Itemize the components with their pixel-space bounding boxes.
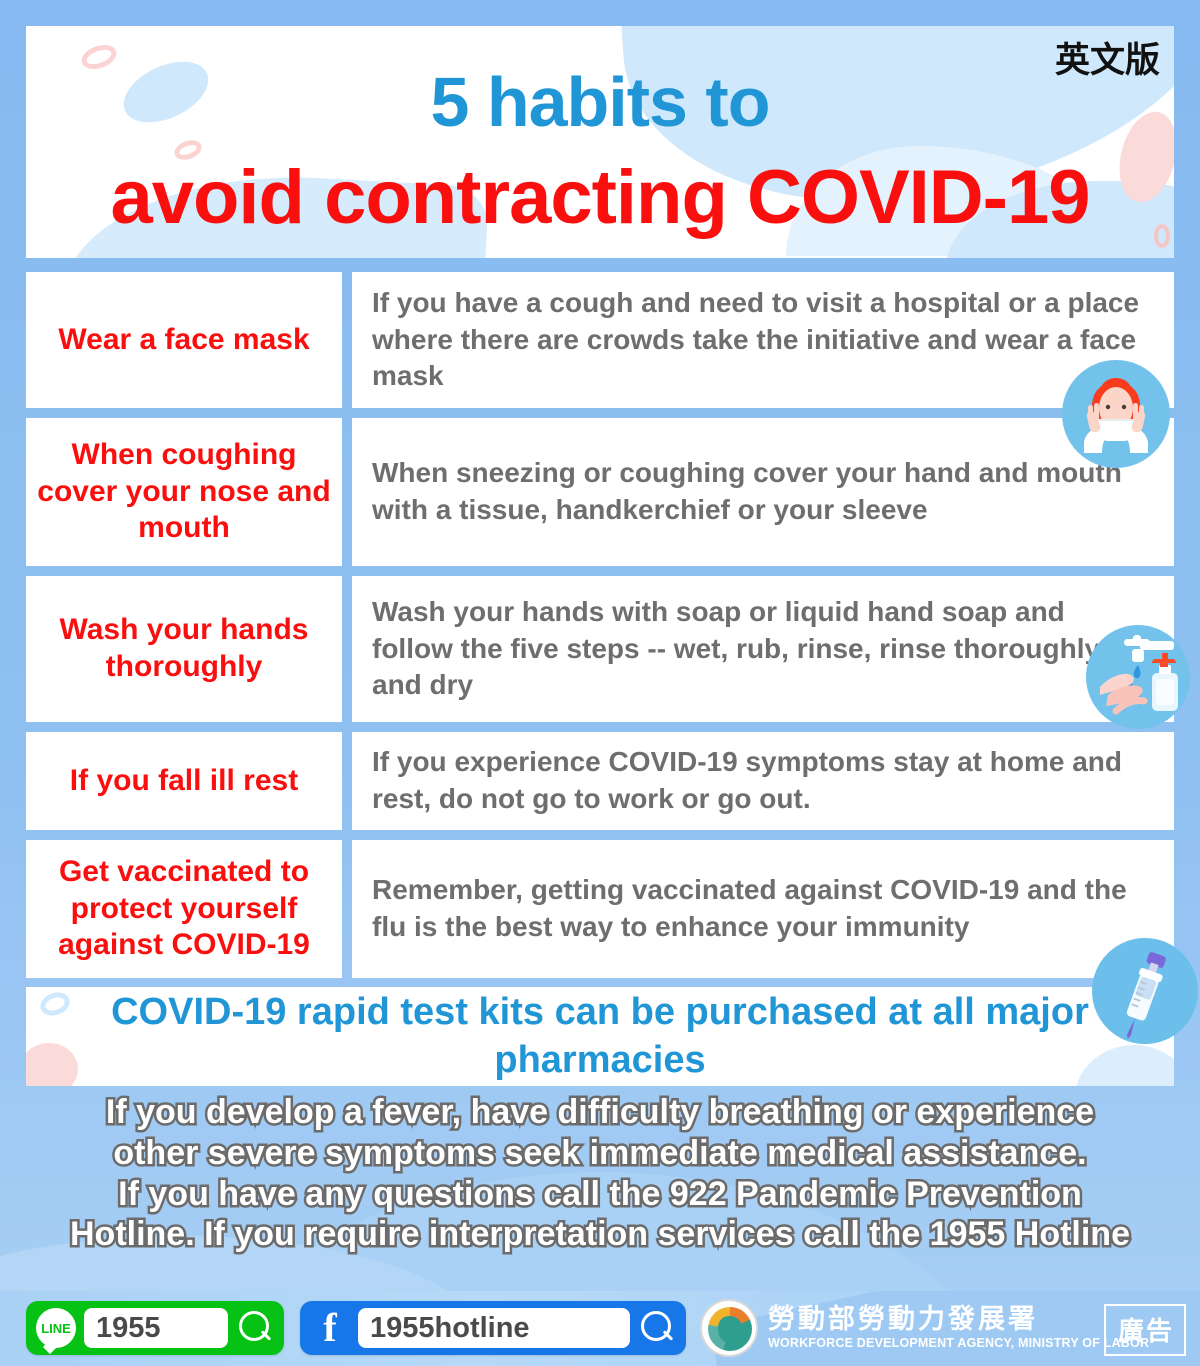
agency-branding: 勞動部勞動力發展署 WORKFORCE DEVELOPMENT AGENCY, … — [700, 1299, 1149, 1357]
facebook-contact-chip[interactable]: f 1955hotline — [300, 1301, 686, 1355]
habit-row: When coughing cover your nose and mouth … — [26, 418, 1174, 566]
notice-line-2: other severe symptoms seek immediate med… — [0, 1133, 1200, 1174]
poster-root: 英文版 5 habits to avoid contracting COVID-… — [0, 0, 1200, 1366]
habit-title: Wash your hands thoroughly — [32, 612, 336, 685]
face-mask-person-icon — [1062, 360, 1170, 468]
habit-description: If you have a cough and need to visit a … — [372, 285, 1152, 395]
habit-title-cell: Get vaccinated to protect yourself again… — [26, 840, 342, 978]
poster-title-line2: avoid contracting COVID-19 — [26, 154, 1174, 241]
language-badge: 英文版 — [1055, 32, 1160, 83]
search-icon[interactable] — [638, 1309, 676, 1347]
habit-title-cell: When coughing cover your nose and mouth — [26, 418, 342, 566]
habit-title: If you fall ill rest — [70, 763, 298, 800]
line-contact-chip[interactable]: LINE 1955 — [26, 1301, 284, 1355]
search-icon[interactable] — [236, 1309, 274, 1347]
habit-row: If you fall ill rest If you experience C… — [26, 732, 1174, 830]
pharmacy-note-text: COVID-19 rapid test kits can be purchase… — [26, 989, 1174, 1084]
notice-line-4: Hotline. If you require interpretation s… — [0, 1214, 1200, 1255]
habit-title-cell: Wear a face mask — [26, 272, 342, 408]
habit-description: When sneezing or coughing cover your han… — [372, 455, 1152, 528]
agency-name-en: WORKFORCE DEVELOPMENT AGENCY, MINISTRY O… — [768, 1336, 1149, 1350]
seal-core — [718, 1316, 743, 1343]
facebook-page-value: 1955hotline — [358, 1308, 630, 1348]
emergency-notice-section: If you develop a fever, have difficulty … — [0, 1086, 1200, 1291]
habit-row: Wash your hands thoroughly Wash your han… — [26, 576, 1174, 722]
habit-description-cell: Wash your hands with soap or liquid hand… — [352, 576, 1174, 722]
syringe-icon — [1092, 938, 1198, 1044]
poster-header: 英文版 5 habits to avoid contracting COVID-… — [26, 26, 1174, 258]
habit-title: Wear a face mask — [58, 322, 309, 359]
line-icon: LINE — [36, 1308, 76, 1348]
agency-text-block: 勞動部勞動力發展署 WORKFORCE DEVELOPMENT AGENCY, … — [768, 1306, 1149, 1350]
notice-line-3: If you have any questions call the 922 P… — [0, 1174, 1200, 1215]
habit-description: If you experience COVID-19 symptoms stay… — [372, 744, 1152, 817]
habit-row: Get vaccinated to protect yourself again… — [26, 840, 1174, 978]
facebook-icon: f — [310, 1308, 350, 1348]
footer-bar: LINE 1955 f 1955hotline 勞動部勞動力發展署 WORKFO… — [0, 1291, 1200, 1366]
line-id-value: 1955 — [84, 1308, 228, 1348]
habit-title: When coughing cover your nose and mouth — [32, 437, 336, 547]
habit-title-cell: Wash your hands thoroughly — [26, 576, 342, 722]
habit-description: Remember, getting vaccinated against COV… — [372, 872, 1152, 945]
notice-line-1: If you develop a fever, have difficulty … — [0, 1092, 1200, 1133]
habit-title-cell: If you fall ill rest — [26, 732, 342, 830]
poster-title-line1: 5 habits to — [26, 62, 1174, 142]
habit-title: Get vaccinated to protect yourself again… — [32, 854, 336, 964]
habit-description-cell: If you have a cough and need to visit a … — [352, 272, 1174, 408]
agency-name-zh: 勞動部勞動力發展署 — [768, 1306, 1149, 1333]
handwashing-faucet-icon — [1086, 625, 1190, 729]
agency-seal-icon — [700, 1299, 758, 1357]
emergency-notice-text: If you develop a fever, have difficulty … — [0, 1086, 1200, 1255]
pharmacy-note-panel: COVID-19 rapid test kits can be purchase… — [26, 987, 1174, 1086]
advertisement-badge: 廣告 — [1104, 1304, 1186, 1356]
habit-description: Wash your hands with soap or liquid hand… — [372, 594, 1152, 704]
habit-description-cell: If you experience COVID-19 symptoms stay… — [352, 732, 1174, 830]
habit-description-cell: When sneezing or coughing cover your han… — [352, 418, 1174, 566]
habit-row: Wear a face mask If you have a cough and… — [26, 272, 1174, 408]
habit-description-cell: Remember, getting vaccinated against COV… — [352, 840, 1174, 978]
